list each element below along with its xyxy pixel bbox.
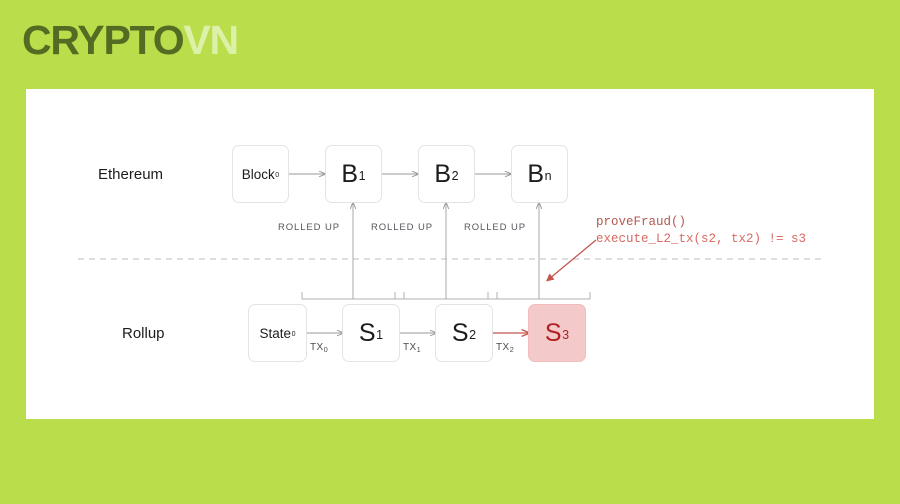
rollup-bracket-1: [302, 202, 404, 299]
caption-tx2: TX2: [496, 342, 514, 353]
node-s3-fraudulent[interactable]: S3: [528, 304, 586, 362]
brand-logo-primary: CRYPTO: [22, 17, 183, 63]
node-b1-label: B: [341, 160, 358, 189]
layer-label-rollup: Rollup: [122, 325, 165, 342]
content-card: Ethereum Rollup Block0 B1 B2 Bn ROLLED U…: [26, 89, 874, 419]
node-b2[interactable]: B2: [418, 145, 475, 203]
caption-tx1-subscript: 1: [417, 345, 422, 354]
caption-tx2-subscript: 2: [510, 345, 515, 354]
node-s3-label: S: [545, 319, 562, 348]
node-bn-subscript: n: [545, 169, 552, 183]
fraud-proof-annotation-line1: proveFraud(): [596, 214, 806, 231]
caption-rolled-up-2: ROLLED UP: [371, 222, 433, 233]
node-s2-subscript: 2: [469, 328, 476, 342]
caption-tx2-label: TX: [496, 342, 510, 353]
caption-tx0-label: TX: [310, 342, 324, 353]
node-s1-label: S: [359, 319, 376, 348]
node-state0-subscript: 0: [292, 331, 296, 338]
caption-tx1: TX1: [403, 342, 421, 353]
node-b1-subscript: 1: [359, 169, 366, 183]
caption-tx0-subscript: 0: [324, 345, 329, 354]
node-s2[interactable]: S2: [435, 304, 493, 362]
rollup-bracket-2: [395, 202, 497, 299]
node-b2-label: B: [434, 160, 451, 189]
node-b2-subscript: 2: [452, 169, 459, 183]
node-bn[interactable]: Bn: [511, 145, 568, 203]
slide-canvas: CRYPTOVN: [0, 0, 900, 504]
caption-tx1-label: TX: [403, 342, 417, 353]
layer-label-ethereum: Ethereum: [98, 166, 163, 183]
node-b1[interactable]: B1: [325, 145, 382, 203]
node-bn-label: B: [527, 160, 544, 189]
diagram-vector-layer: [26, 89, 874, 419]
node-state0[interactable]: State0: [248, 304, 307, 362]
caption-tx0: TX0: [310, 342, 328, 353]
node-s3-subscript: 3: [562, 328, 569, 342]
node-block0-label: Block: [242, 167, 275, 182]
brand-logo: CRYPTOVN: [22, 17, 238, 63]
fraud-proof-annotation: proveFraud() execute_L2_tx(s2, tx2) != s…: [596, 214, 806, 248]
node-s2-label: S: [452, 319, 469, 348]
node-s1[interactable]: S1: [342, 304, 400, 362]
fraud-proof-annotation-line2: execute_L2_tx(s2, tx2) != s3: [596, 231, 806, 248]
node-state0-label: State: [260, 326, 292, 341]
caption-rolled-up-3: ROLLED UP: [464, 222, 526, 233]
node-block0-subscript: 0: [275, 172, 279, 179]
rollup-fraud-proof-diagram: Ethereum Rollup Block0 B1 B2 Bn ROLLED U…: [26, 89, 874, 419]
rollup-bracket-3: [488, 202, 590, 299]
node-s1-subscript: 1: [376, 328, 383, 342]
node-block0[interactable]: Block0: [232, 145, 289, 203]
brand-logo-secondary: VN: [183, 17, 238, 63]
caption-rolled-up-1: ROLLED UP: [278, 222, 340, 233]
